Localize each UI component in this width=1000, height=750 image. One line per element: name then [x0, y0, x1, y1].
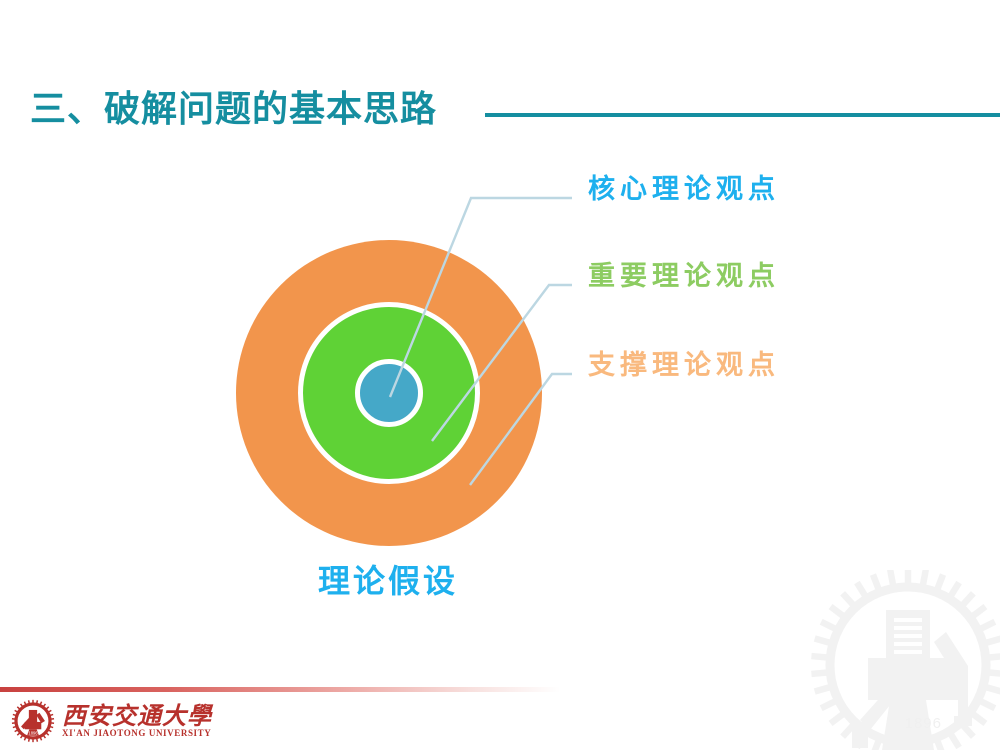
- university-logo: 1896 西安交通大學 XI'AN JIAOTONG UNIVERSITY: [10, 697, 212, 745]
- footer-rule: [0, 687, 560, 692]
- concentric-diagram: [228, 240, 548, 560]
- title-row: 三、破解问题的基本思路: [0, 72, 1000, 128]
- page-title: 三、破解问题的基本思路: [30, 92, 437, 128]
- logo-name-en: XI'AN JIAOTONG UNIVERSITY: [62, 729, 212, 739]
- label-support-theory: 支撑理论观点: [588, 352, 780, 379]
- diagram-caption: 理论假设: [228, 565, 548, 597]
- svg-text:1896: 1896: [28, 730, 38, 735]
- label-key-theory: 重要理论观点: [588, 263, 780, 290]
- slide-canvas: 三、破解问题的基本思路 核心理论观点 重要理论观点 支撑理论观点 理论假设: [0, 0, 1000, 750]
- title-underline: [485, 113, 1000, 117]
- logo-name-cn: 西安交通大學: [62, 703, 212, 728]
- label-core-theory: 核心理论观点: [588, 176, 780, 203]
- watermark-year: 1896: [905, 715, 942, 732]
- gear-bell-emblem-icon: 1896: [10, 698, 56, 744]
- logo-text-block: 西安交通大學 XI'AN JIAOTONG UNIVERSITY: [62, 703, 212, 738]
- ring-inner-core: [355, 359, 423, 427]
